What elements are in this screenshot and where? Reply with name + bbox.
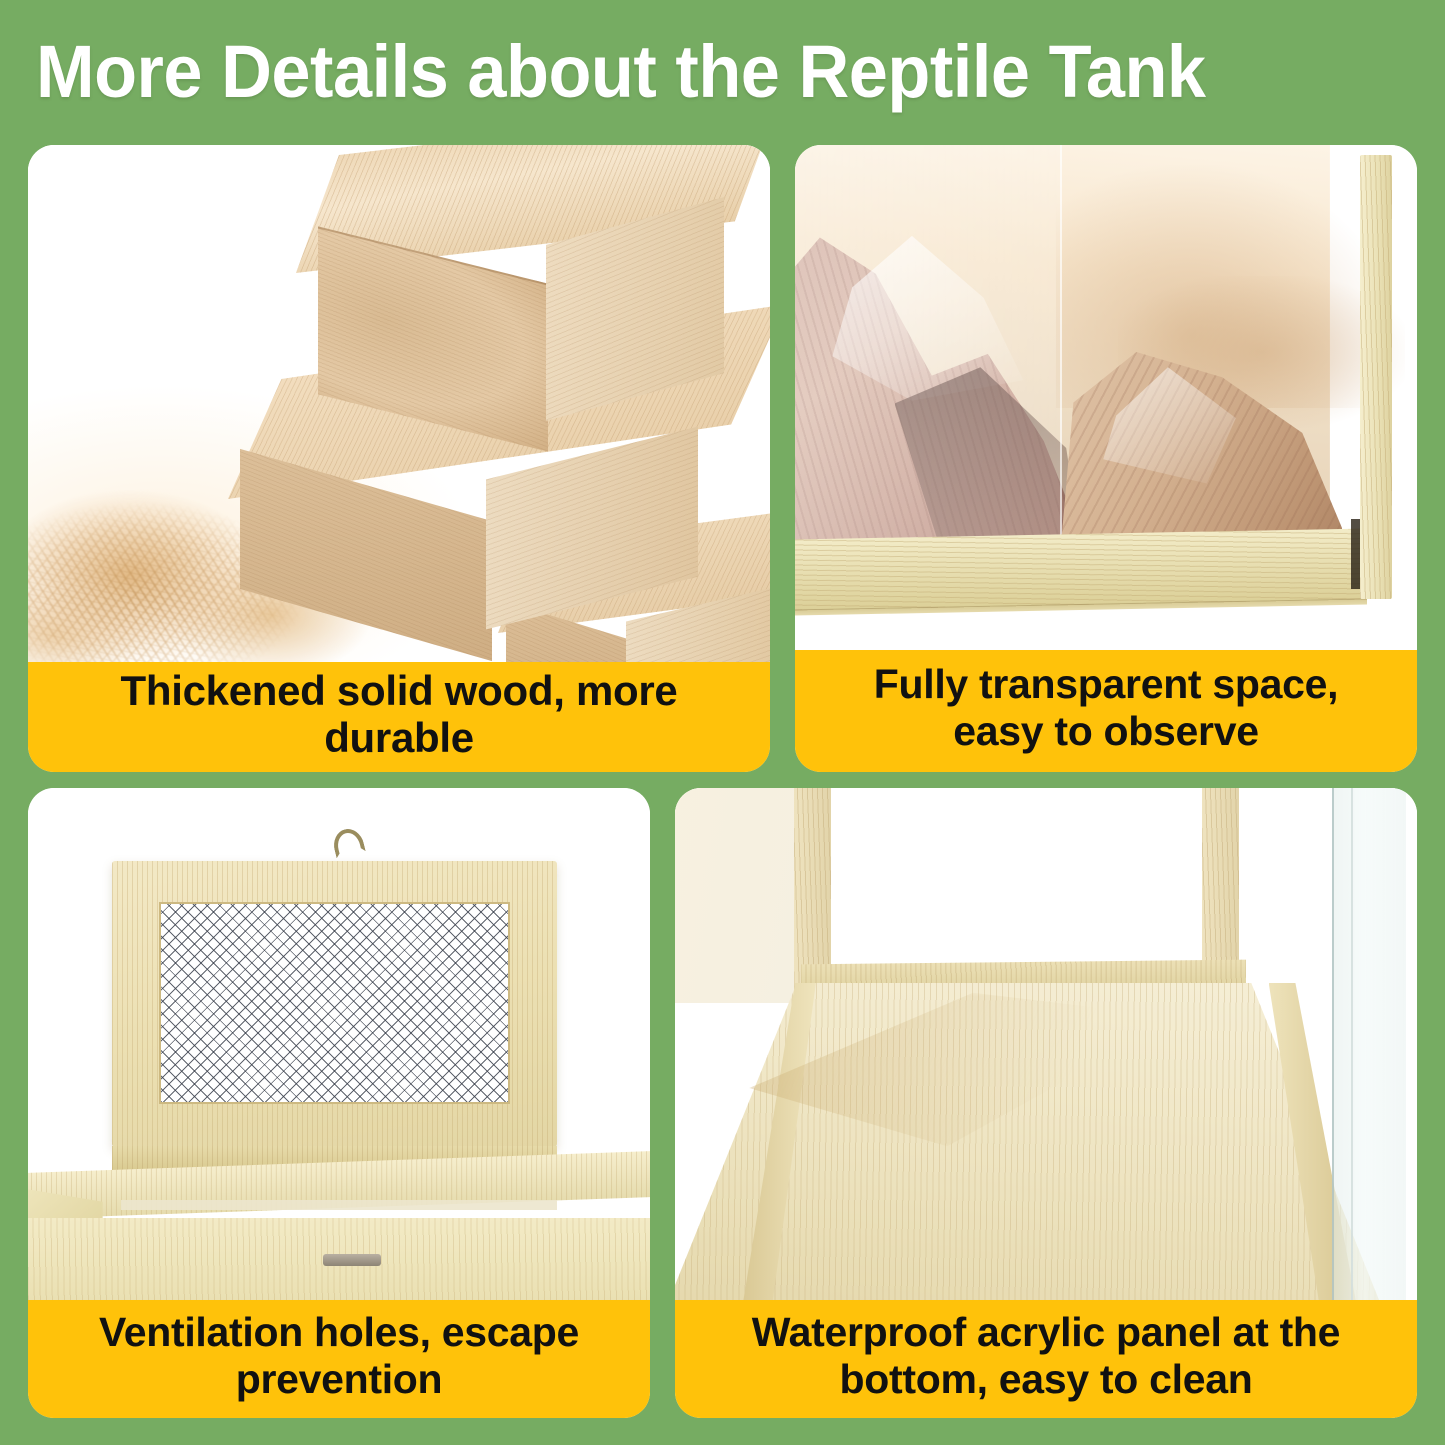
feature-card-waterproof-acrylic-bottom: Waterproof acrylic panel at the bottom, … — [675, 788, 1417, 1418]
feature-card-fully-transparent-space: Fully transparent space, easy to observe — [795, 145, 1417, 772]
lid-gap — [121, 1200, 556, 1210]
wood-blocks-photo — [28, 145, 770, 662]
acrylic-floor-photo — [675, 788, 1417, 1300]
metal-latch-plate — [323, 1254, 381, 1266]
feature-card-thickened-solid-wood: Thickened solid wood, more durable — [28, 145, 770, 772]
wood-face-side — [486, 427, 698, 630]
caption-waterproof-acrylic-bottom: Waterproof acrylic panel at the bottom, … — [675, 1300, 1417, 1418]
page-title: More Details about the Reptile Tank — [36, 22, 1347, 122]
wire-mesh-screen — [159, 902, 510, 1104]
caption-ventilation-holes: Ventilation holes, escape prevention — [28, 1300, 650, 1418]
wood-corner-post — [1360, 155, 1392, 599]
wood-post-left — [794, 788, 831, 993]
latch-hook-icon — [330, 826, 365, 858]
post-shadow — [1351, 519, 1360, 590]
caption-fully-transparent-space: Fully transparent space, easy to observe — [795, 650, 1417, 772]
infographic-root: More Details about the Reptile Tank Thic… — [0, 0, 1445, 1445]
mesh-lid-photo — [28, 788, 650, 1300]
wood-block-upper — [296, 155, 716, 415]
wood-base-rail — [795, 528, 1367, 610]
glass-side-panel — [1332, 788, 1406, 1300]
transparent-panel-photo — [795, 145, 1417, 650]
acrylic-panel-overlay — [795, 145, 1062, 569]
caption-thickened-solid-wood: Thickened solid wood, more durable — [28, 662, 770, 772]
wooden-lid-frame — [112, 861, 557, 1148]
tank-left-panel — [675, 788, 801, 1003]
feature-card-ventilation-holes: Ventilation holes, escape prevention — [28, 788, 650, 1418]
